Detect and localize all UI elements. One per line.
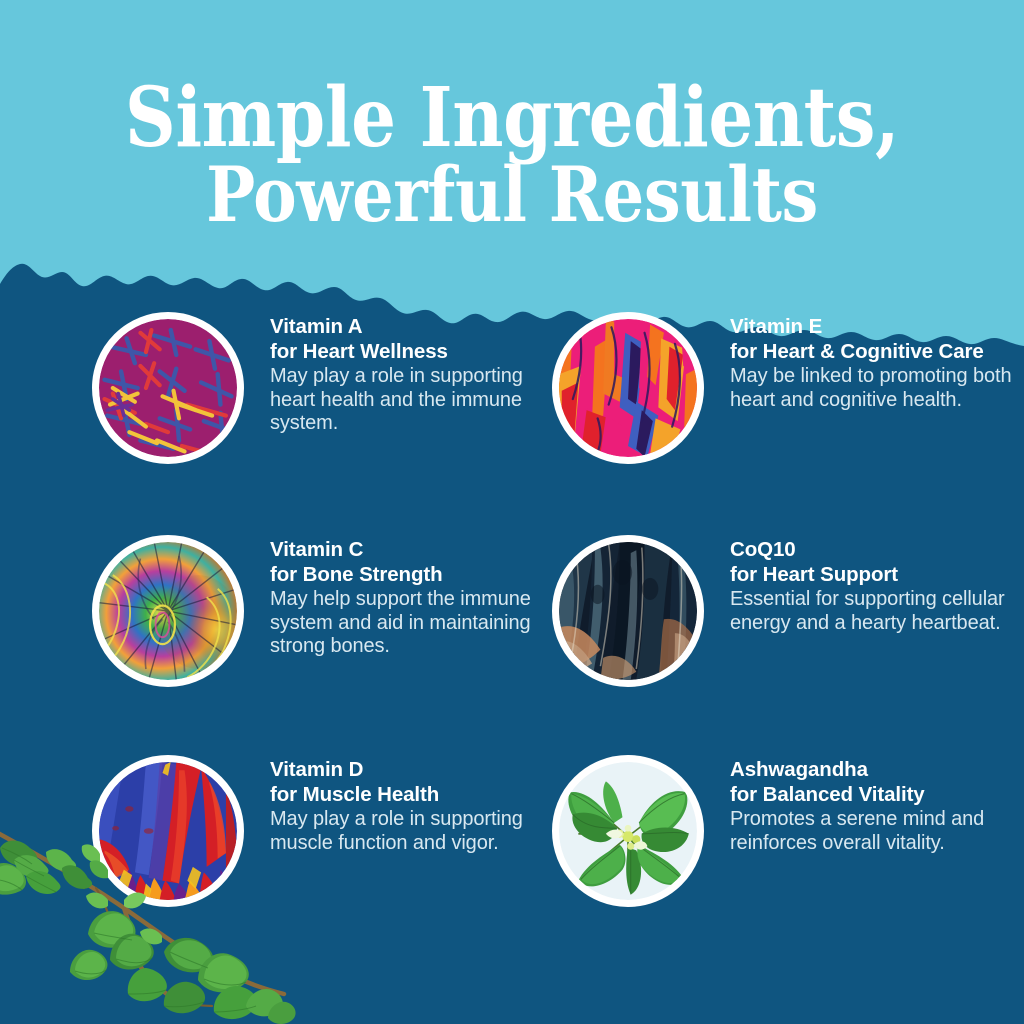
ingredient-image-ashwagandha [552,755,704,907]
ingredient-description: May be linked to promoting both heart an… [730,365,1024,412]
ingredient-text-vitamin-e: Vitamin E for Heart & Cognitive Care May… [730,314,1024,412]
ingredient-text-vitamin-a: Vitamin A for Heart Wellness May play a … [270,314,562,436]
ingredient-card-vitamin-c[interactable]: Vitamin C for Bone Strength May help sup… [92,535,562,725]
ingredient-card-vitamin-a[interactable]: Vitamin A for Heart Wellness May play a … [92,312,562,502]
ingredient-name: Ashwagandha [730,757,1022,782]
ingredient-card-coq10[interactable]: CoQ10 for Heart Support Essential for su… [552,535,1022,725]
ingredient-image-vitamin-d [92,755,244,907]
ingredient-text-coq10: CoQ10 for Heart Support Essential for su… [730,537,1022,635]
ingredient-image-coq10 [552,535,704,687]
ingredient-benefit: for Heart Support [730,562,1022,587]
ingredient-card-vitamin-e[interactable]: Vitamin E for Heart & Cognitive Care May… [552,312,1022,502]
ingredient-description: May play a role in supporting heart heal… [270,365,562,436]
ingredient-description: Promotes a serene mind and reinforces ov… [730,808,1022,855]
ingredient-benefit: for Muscle Health [270,782,562,807]
ingredient-description: May play a role in supporting muscle fun… [270,808,562,855]
ingredient-description: May help support the immune system and a… [270,588,562,659]
ingredient-name: Vitamin A [270,314,562,339]
ingredient-name: CoQ10 [730,537,1022,562]
ingredient-text-vitamin-c: Vitamin C for Bone Strength May help sup… [270,537,562,659]
ingredient-name: Vitamin D [270,757,562,782]
ingredient-benefit: for Bone Strength [270,562,562,587]
ingredient-text-ashwagandha: Ashwagandha for Balanced Vitality Promot… [730,757,1022,855]
ingredient-benefit: for Heart Wellness [270,339,562,364]
ingredient-card-ashwagandha[interactable]: Ashwagandha for Balanced Vitality Promot… [552,755,1022,945]
ingredient-card-vitamin-d[interactable]: Vitamin D for Muscle Health May play a r… [92,755,562,945]
ingredient-text-vitamin-d: Vitamin D for Muscle Health May play a r… [270,757,562,855]
ingredient-image-vitamin-e [552,312,704,464]
ingredient-name: Vitamin E [730,314,1024,339]
ingredient-benefit: for Heart & Cognitive Care [730,339,1024,364]
ingredient-name: Vitamin C [270,537,562,562]
ingredient-description: Essential for supporting cellular energy… [730,588,1022,635]
ingredient-image-vitamin-c [92,535,244,687]
ingredients-infographic: Simple Ingredients, Powerful Results [0,0,1024,1024]
ingredient-image-vitamin-a [92,312,244,464]
ingredient-benefit: for Balanced Vitality [730,782,1022,807]
ingredients-grid: Vitamin A for Heart Wellness May play a … [0,0,1024,1024]
